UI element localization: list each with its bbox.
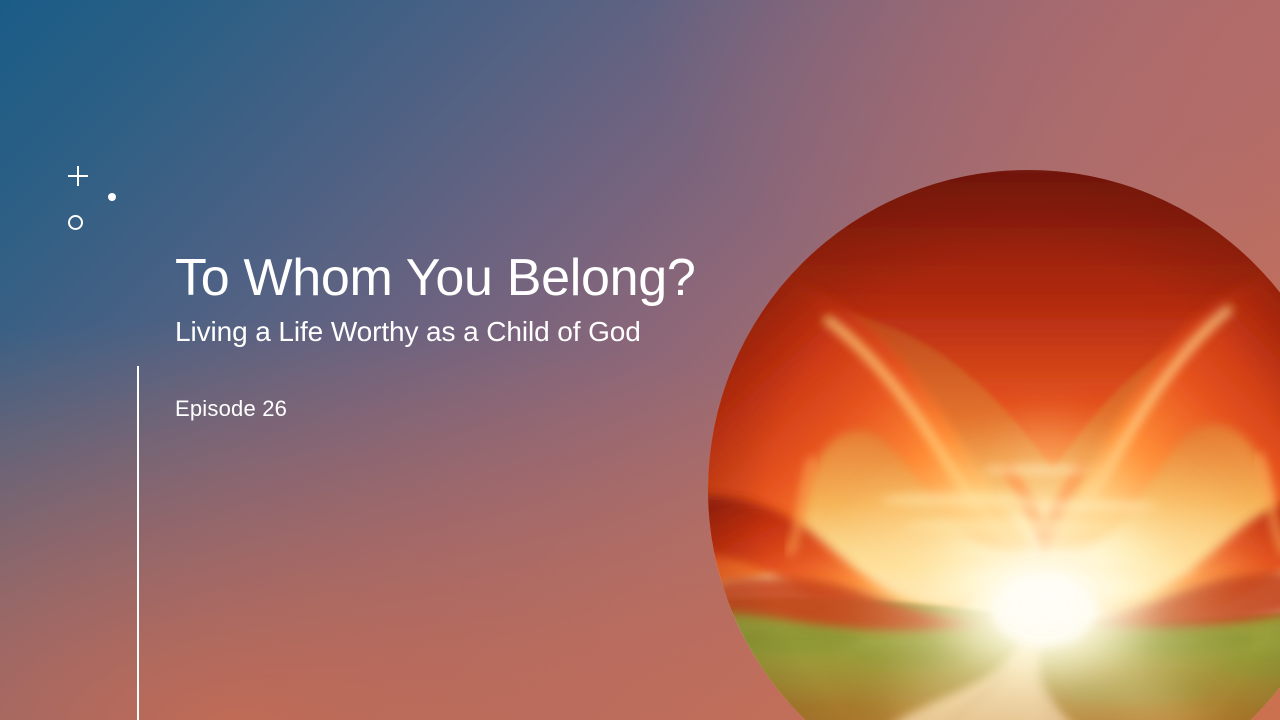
episode-label: Episode 26 [175, 396, 287, 422]
page-title: To Whom You Belong? [175, 252, 735, 304]
dot-mark-icon [108, 193, 116, 201]
circle-outline-mark-icon [68, 215, 83, 230]
headline-block: To Whom You Belong? Living a Life Worthy… [175, 252, 735, 346]
heart-cloud-sunset-photo [708, 170, 1280, 720]
plus-mark-icon [68, 166, 88, 186]
title-slide: To Whom You Belong? Living a Life Worthy… [0, 0, 1280, 720]
vertical-rule-divider [137, 366, 139, 720]
page-subtitle: Living a Life Worthy as a Child of God [175, 317, 735, 346]
heart-cloud-sunset-illustration [708, 170, 1280, 720]
